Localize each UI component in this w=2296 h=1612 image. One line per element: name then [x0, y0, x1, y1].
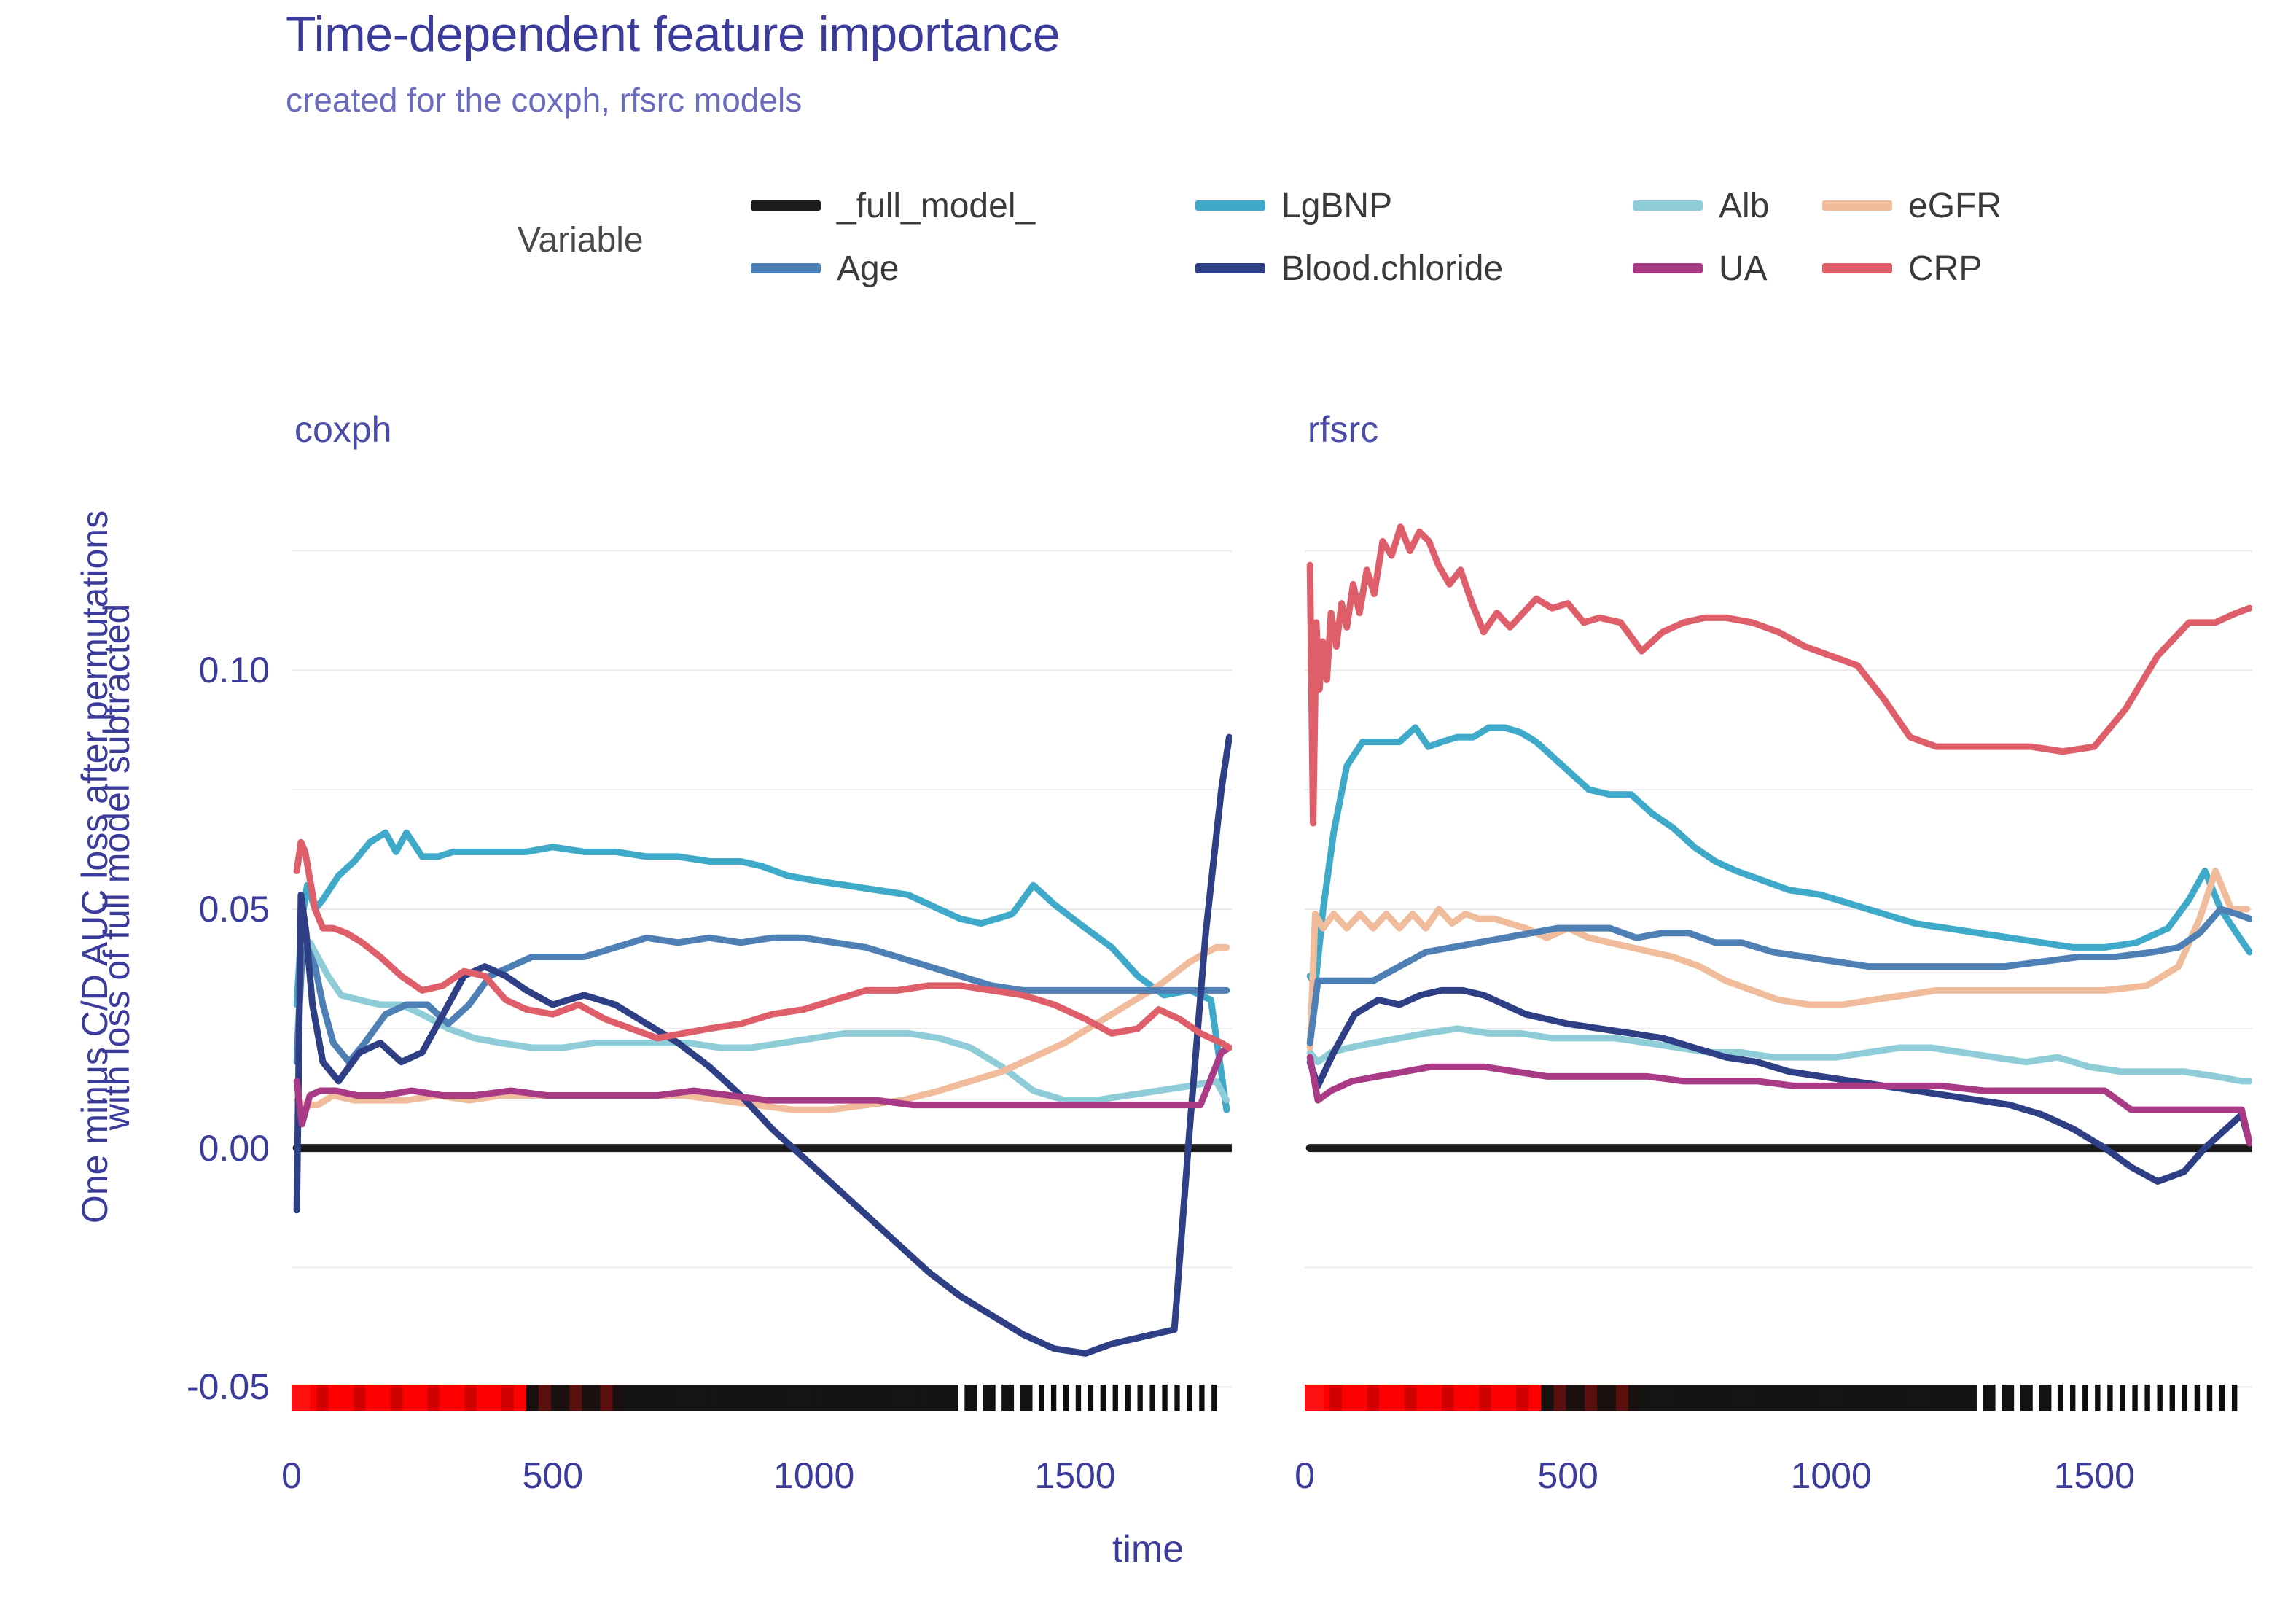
x-tick-label: 500: [1537, 1455, 1598, 1497]
legend-label-alb: Alb: [1719, 186, 1769, 226]
legend-swatch-alb: [1633, 200, 1703, 211]
series-line-alb: [1310, 1029, 2249, 1081]
y-tick-label: -0.05: [187, 1366, 270, 1408]
panel-rfsrc: rfsrc: [1305, 408, 2252, 1429]
x-axis-ticks-rfsrc: 050010001500: [1305, 1455, 2252, 1501]
panel-label-rfsrc: rfsrc: [1308, 408, 1378, 451]
plot-area-coxph[interactable]: [292, 503, 1232, 1411]
legend-item-alb[interactable]: Alb: [1633, 175, 1769, 236]
rug-strip: [1305, 1385, 2237, 1411]
rug-strip: [292, 1385, 1217, 1411]
legend-label-lgbnp: LgBNP: [1281, 186, 1392, 226]
panel-label-coxph: coxph: [294, 408, 391, 451]
x-tick-label: 0: [281, 1455, 302, 1497]
legend-title: Variable: [518, 220, 644, 260]
legend-swatch-egfr: [1822, 200, 1892, 211]
x-axis-ticks-coxph: 050010001500: [292, 1455, 1232, 1501]
legend-label-full-model: _full_model_: [837, 186, 1035, 226]
series-line-lgbnp: [297, 833, 1227, 1110]
x-tick-label: 1500: [2054, 1455, 2135, 1497]
x-tick-label: 500: [523, 1455, 583, 1497]
legend-item-ua[interactable]: UA: [1633, 238, 1768, 299]
y-axis-label-line2: with loss of full model subtracted: [95, 429, 138, 1304]
x-tick-label: 1000: [773, 1455, 854, 1497]
y-tick-label: 0.00: [199, 1127, 270, 1169]
legend-label-ua: UA: [1719, 249, 1768, 289]
x-tick-label: 1000: [1791, 1455, 1872, 1497]
page-title: Time-dependent feature importance: [286, 6, 1060, 63]
legend-label-egfr: eGFR: [1908, 186, 2002, 226]
legend-item-egfr[interactable]: eGFR: [1822, 175, 2002, 236]
legend-swatch-blood-chloride: [1195, 263, 1265, 273]
legend-swatch-full-model: [751, 200, 821, 211]
legend-swatch-ua: [1633, 263, 1703, 273]
legend-item-blood-chloride[interactable]: Blood.chloride: [1195, 238, 1503, 299]
series-line-crp: [1310, 527, 2249, 823]
legend-swatch-crp: [1822, 263, 1892, 273]
legend-label-age: Age: [837, 249, 899, 289]
legend-item-crp[interactable]: CRP: [1822, 238, 1982, 299]
x-axis-label: time: [0, 1527, 2296, 1571]
legend-label-blood-chloride: Blood.chloride: [1281, 249, 1503, 289]
legend-label-crp: CRP: [1908, 249, 1982, 289]
y-tick-label: 0.10: [199, 649, 270, 691]
legend-item-full-model[interactable]: _full_model_: [751, 175, 1035, 236]
plot-area-rfsrc[interactable]: [1305, 503, 2252, 1411]
x-tick-label: 1500: [1034, 1455, 1115, 1497]
legend-swatch-lgbnp: [1195, 200, 1265, 211]
series-line-age: [1310, 909, 2249, 1043]
page-subtitle: created for the coxph, rfsrc models: [286, 80, 802, 120]
legend-item-age[interactable]: Age: [751, 238, 899, 299]
y-tick-label: 0.05: [199, 888, 270, 930]
series-line-ua: [297, 1048, 1229, 1124]
panel-coxph: coxph: [292, 408, 1232, 1429]
chart-legend: Variable _full_model_ LgBNP Alb eGFR Age…: [518, 175, 2019, 314]
legend-swatch-age: [751, 263, 821, 273]
legend-item-lgbnp[interactable]: LgBNP: [1195, 175, 1392, 236]
x-tick-label: 0: [1295, 1455, 1315, 1497]
